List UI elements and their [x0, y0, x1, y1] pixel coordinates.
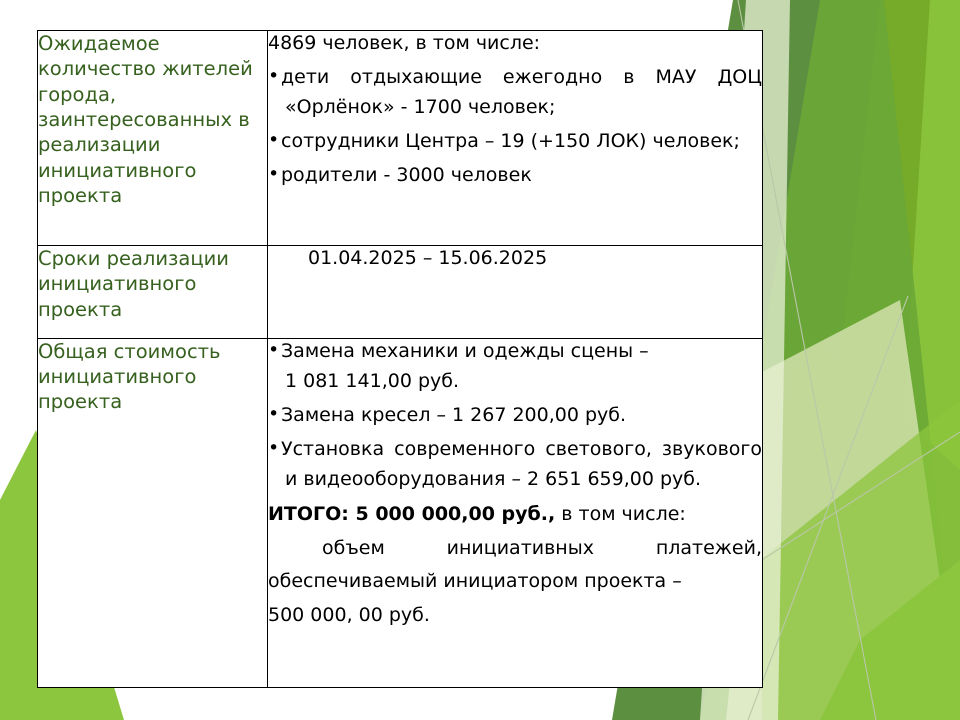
- initiative-project-info-table: Ожидаемое количество жителей города, заи…: [37, 30, 763, 688]
- list-item: дети отдыхающие ежегодно в МАУ ДОЦ «Орлё…: [268, 65, 762, 120]
- bullet-main-text: родители - 3000 человек: [281, 164, 532, 186]
- row-label-implementation-period: Сроки реализации инициативного проекта: [38, 245, 268, 338]
- initiative-payments-line-3: 500 000, 00 руб.: [268, 603, 762, 628]
- bullet-main-text: дети отдыхающие ежегодно в МАУ ДОЦ: [281, 65, 762, 90]
- table-row-implementation-period: Сроки реализации инициативного проекта 0…: [38, 245, 763, 338]
- list-item: Замена кресел – 1 267 200,00 руб.: [268, 403, 762, 428]
- total-cost-summary: ИТОГО: 5 000 000,00 руб., в том числе:: [268, 502, 762, 527]
- table-row-expected-residents: Ожидаемое количество жителей города, заи…: [38, 31, 763, 246]
- implementation-date-range: 01.04.2025 – 15.06.2025: [268, 246, 762, 271]
- list-item: Замена механики и одежды сцены – 1 081 1…: [268, 339, 762, 394]
- row-label-total-cost: Общая стоимость инициативного проекта: [38, 338, 268, 687]
- table-row-total-cost: Общая стоимость инициативного проекта За…: [38, 338, 763, 687]
- row-label-expected-residents: Ожидаемое количество жителей города, заи…: [38, 31, 268, 246]
- expected-residents-total: 4869 человек, в том числе:: [268, 31, 762, 56]
- bullet-continuation-text: и видеооборудования – 2 651 659,00 руб.: [281, 467, 762, 492]
- list-item: сотрудники Центра – 19 (+150 ЛОК) челове…: [268, 129, 762, 154]
- list-item: родители - 3000 человек: [268, 163, 762, 188]
- initiative-payments-line-2: обеспечиваемый инициатором проекта –: [268, 569, 762, 594]
- total-cost-bullet-list: Замена механики и одежды сцены – 1 081 1…: [268, 339, 762, 492]
- expected-residents-bullet-list: дети отдыхающие ежегодно в МАУ ДОЦ «Орлё…: [268, 65, 762, 188]
- total-cost-suffix: в том числе:: [555, 503, 686, 525]
- row-value-implementation-period: 01.04.2025 – 15.06.2025: [268, 245, 763, 338]
- bullet-main-text: Замена кресел – 1 267 200,00 руб.: [281, 404, 626, 426]
- row-value-total-cost: Замена механики и одежды сцены – 1 081 1…: [268, 338, 763, 687]
- bullet-main-text: Замена механики и одежды сцены –: [281, 340, 649, 362]
- list-item: Установка современного светового, звуков…: [268, 437, 762, 492]
- bullet-main-text: Установка современного светового, звуков…: [281, 437, 762, 462]
- row-value-expected-residents: 4869 человек, в том числе: дети отдыхающ…: [268, 31, 763, 246]
- bullet-continuation-text: «Орлёнок» - 1700 человек;: [281, 95, 762, 120]
- total-cost-amount: ИТОГО: 5 000 000,00 руб.,: [268, 503, 555, 525]
- initiative-payments-line-1: объем инициативных платежей,: [268, 536, 762, 561]
- bullet-continuation-text: 1 081 141,00 руб.: [281, 369, 762, 394]
- bullet-main-text: сотрудники Центра – 19 (+150 ЛОК) челове…: [281, 130, 740, 152]
